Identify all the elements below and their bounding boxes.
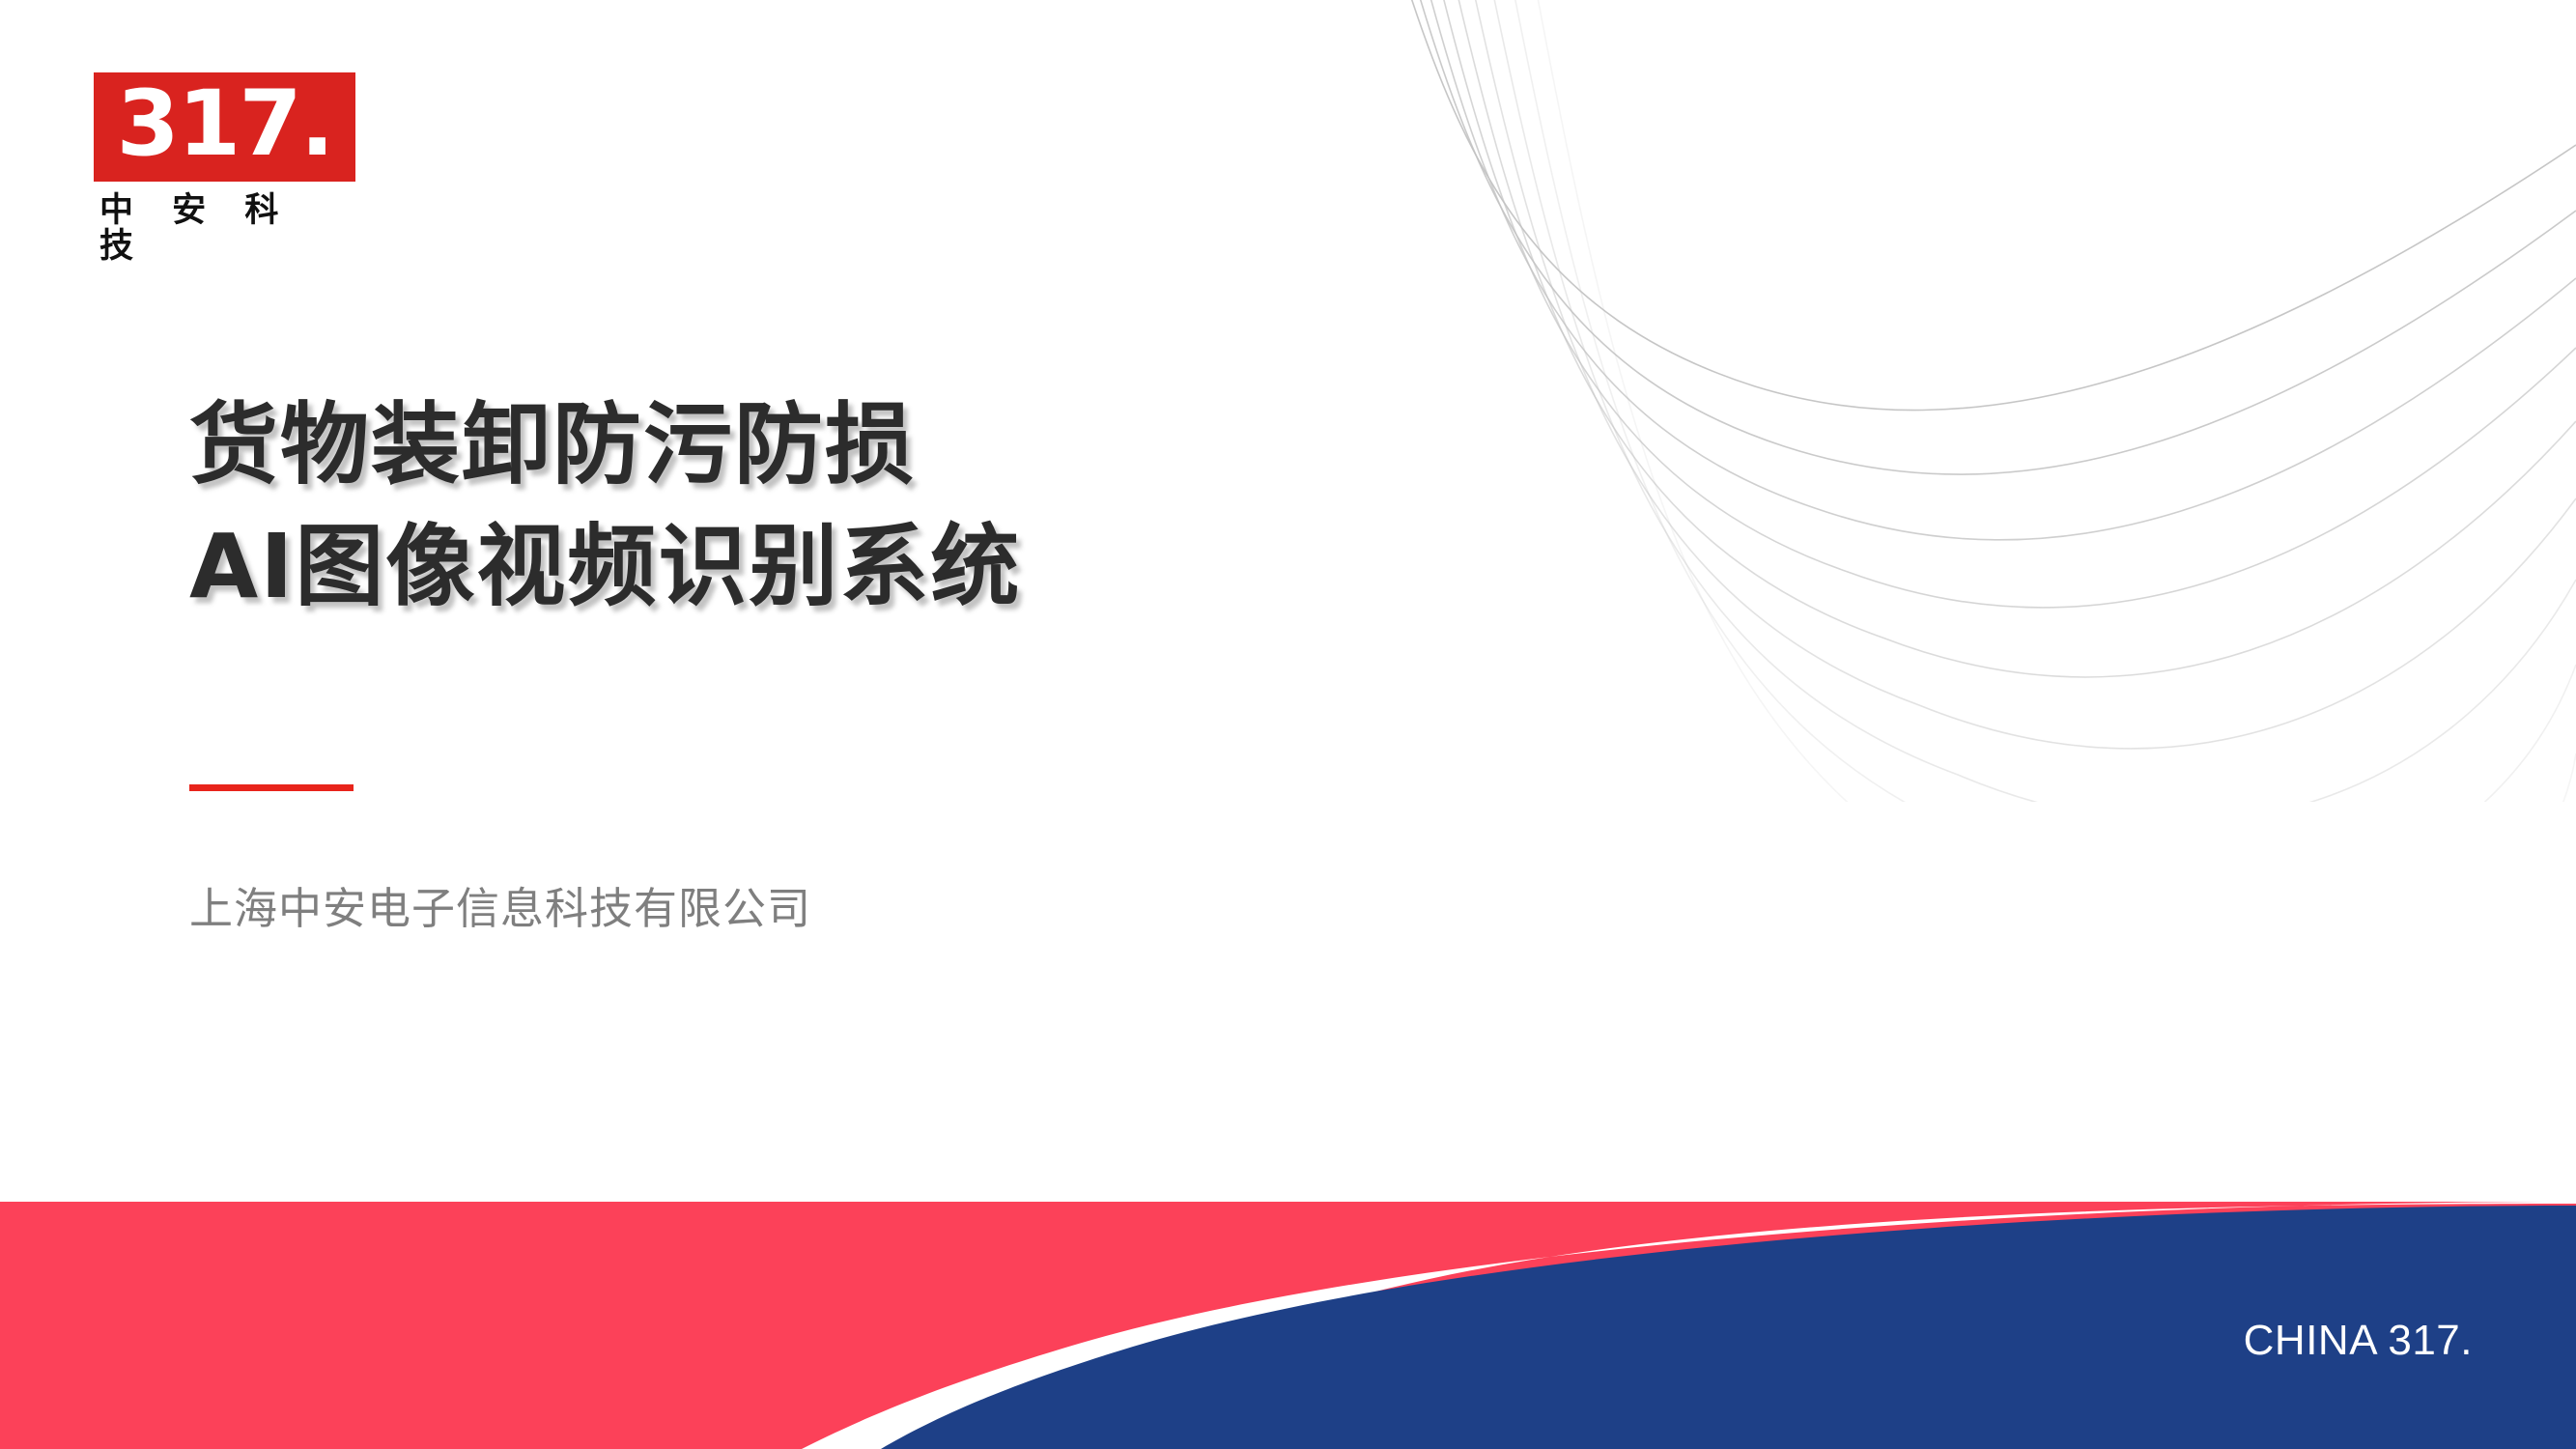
logo-mark-text: 317. <box>117 79 333 170</box>
logo-mark-317: 317. <box>94 72 355 182</box>
slide-canvas: 317. 中 安 科 技 货物装卸防污防损 AI图像视频识别系统 上海中安电子信… <box>0 0 2576 1449</box>
subtitle-company-name: 上海中安电子信息科技有限公司 <box>189 873 811 936</box>
banner-brand-text: CHINA 317. <box>0 1320 2576 1362</box>
curved-line-art-decoration <box>1349 0 2576 802</box>
logo-company-short-name: 中 安 科 技 <box>94 193 355 265</box>
company-logo: 317. 中 安 科 技 <box>94 72 355 265</box>
page-title-line-1: 货物装卸防污防损 <box>189 384 1445 506</box>
page-title-line-2: AI图像视频识别系统 <box>189 506 1445 628</box>
title-block: 货物装卸防污防损 AI图像视频识别系统 <box>189 384 1445 628</box>
title-divider-rule <box>189 784 354 791</box>
